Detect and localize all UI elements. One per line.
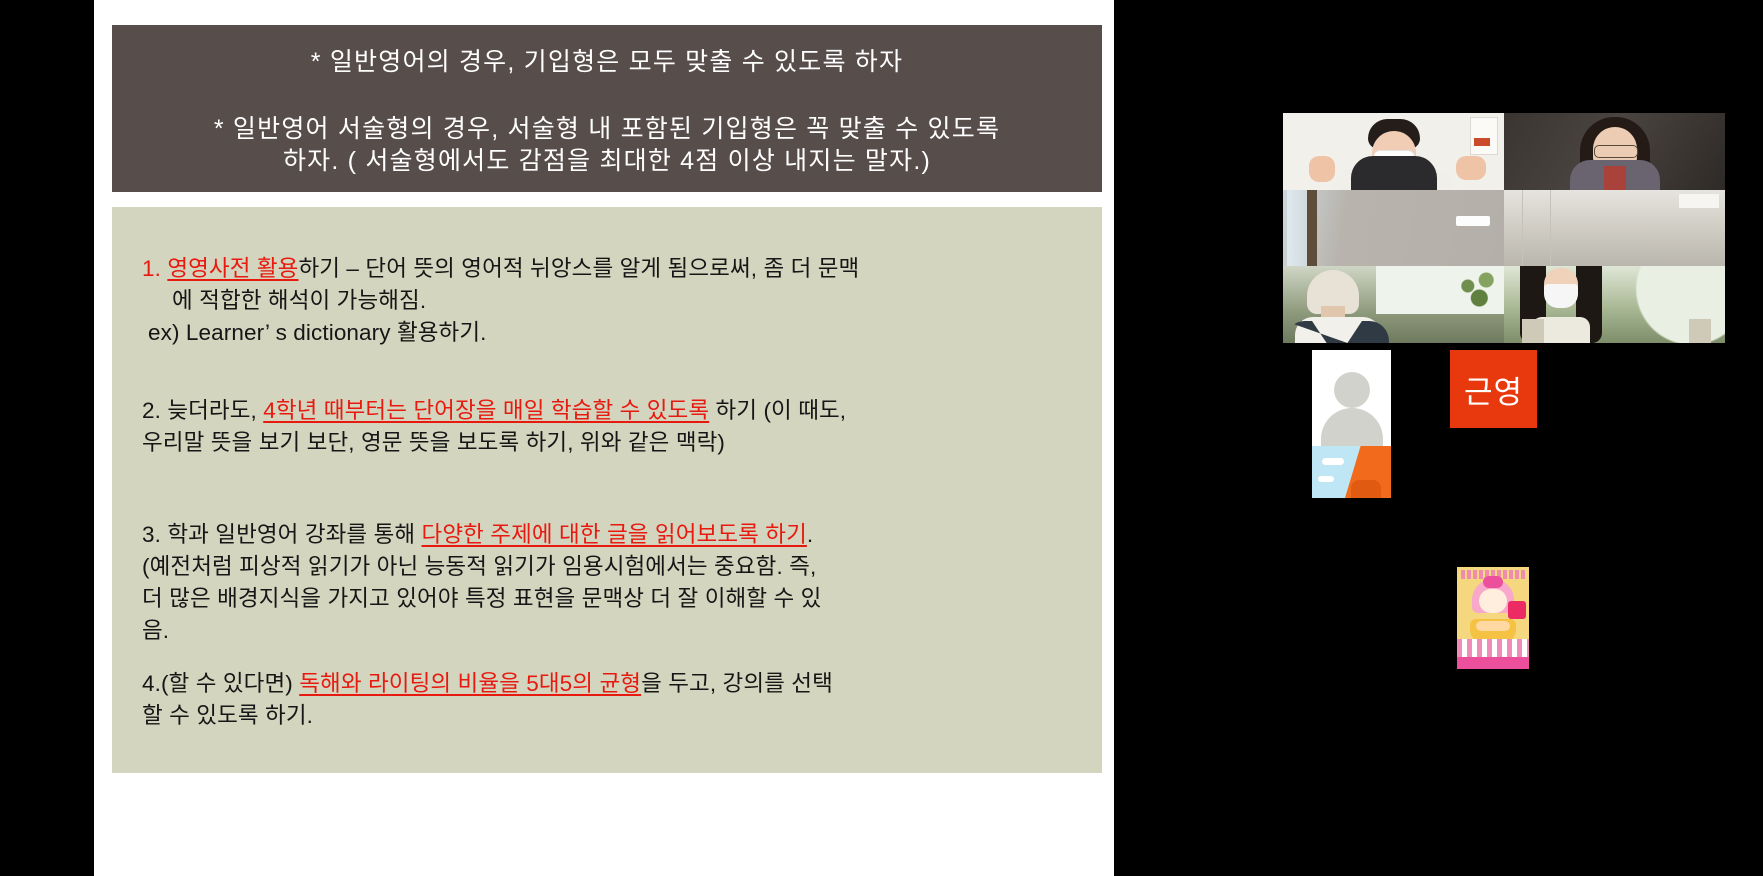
checkered-tablecloth [1457,639,1529,657]
item-3-line-2: (예전처럼 피상적 읽기가 아닌 능동적 읽기가 임용시험에서는 중요함. 즉, [142,551,1076,583]
slide-content: * 일반영어의 경우, 기입형은 모두 맞출 수 있도록 하자 * 일반영어 서… [103,20,1105,858]
video-6-collar-left [1522,319,1544,343]
participant-rail: 근영 [1114,0,1763,876]
item-3-line-3: 더 많은 배경지식을 가지고 있어야 특정 표현을 문맥상 더 잘 이해할 수 … [142,583,1076,615]
eyeglasses-icon [1594,145,1638,158]
spacer-2 [142,459,1076,519]
face-mask-icon [1544,284,1578,308]
cartoon-face [1479,589,1507,613]
item-2-number: 2. [142,398,161,423]
item-2-suffix: 하기 (이 때도, [709,398,846,423]
participant-name-tile[interactable]: 근영 [1450,350,1537,428]
video-3-window [1287,190,1309,267]
slide-header-line-2: * 일반영어 서술형의 경우, 서술형 내 포함된 기입형은 꼭 맞출 수 있도… [122,114,1092,145]
participant-video-2[interactable] [1504,113,1725,190]
participant-video-3[interactable] [1283,190,1504,267]
shared-screen-slide: * 일반영어의 경우, 기입형은 모두 맞출 수 있도록 하자 * 일반영어 서… [94,0,1114,876]
participant-video-grid [1283,113,1725,343]
participant-video-4[interactable] [1504,190,1725,267]
spacer-1 [142,349,1076,395]
rock-formation-shape [1351,480,1381,498]
thumbnail-bottom-band [1457,657,1529,669]
video-6-collar-right [1689,319,1711,343]
item-3-number: 3. [142,522,161,547]
cloud-icon [1318,476,1334,482]
item-3-prefix: 학과 일반영어 강좌를 통해 [161,522,422,547]
soup-shape [1476,621,1510,631]
meeting-window: * 일반영어의 경우, 기입형은 모두 맞출 수 있도록 하자 * 일반영어 서… [0,0,1763,876]
avatar-body-icon [1321,408,1383,446]
video-4-ceiling-seam-1 [1522,190,1523,267]
item-4-number: 4. [142,671,161,696]
item-1-example: ex) Learner’ s dictionary 활용하기. [142,317,1076,349]
default-avatar-tile[interactable] [1312,350,1391,498]
cartoon-thumbnail-image [1457,567,1529,669]
wall-calendar-icon [1470,117,1498,155]
video-4-ceiling-seam-2 [1550,190,1551,267]
participant-video-1[interactable] [1283,113,1504,190]
foliage-icon [1454,270,1500,310]
participant-name-label: 근영 [1464,367,1523,412]
participant-video-5[interactable] [1283,266,1504,343]
slide-body-block: 1. 영영사전 활용하기 – 단어 뜻의 영어적 뉘앙스를 알게 됨으로써, 좀… [112,207,1102,773]
item-4-prefix: (할 수 있다면) [161,671,299,696]
cloud-icon [1322,458,1344,465]
item-1-rest: 하기 – 단어 뜻의 영어적 뉘앙스를 알게 됨으로써, 좀 더 문맥 [298,256,859,281]
slide-header-line-1: * 일반영어의 경우, 기입형은 모두 맞출 수 있도록 하자 [122,47,1092,78]
cartoon-bow-icon [1483,576,1503,588]
ceiling-lamp-icon [1456,216,1490,226]
slide-header-line-3: 하자. ( 서술형에서도 감점을 최대한 4점 이상 내지는 말자.) [122,146,1092,177]
item-2-line-2: 우리말 뜻을 보기 보단, 영문 뜻을 보도록 하기, 위와 같은 맥락) [142,427,1076,459]
item-4-line-2: 할 수 있도록 하기. [142,700,1076,732]
thumbnail-badge [1508,601,1526,619]
slide-list-item-4: 4.(할 수 있다면) 독해와 라이팅의 비율을 5대5의 균형을 두고, 강의… [142,668,1076,700]
item-3-line-4: 음. [142,615,1076,647]
item-1-line-2: 에 적합한 해석이 가능해짐. [142,285,1076,317]
avatar-photo-strip [1312,446,1391,498]
item-4-highlight: 독해와 라이팅의 비율을 5대5의 균형 [299,671,641,696]
item-1-number: 1. [142,256,161,281]
cartoon-thumbnail-tile[interactable] [1421,567,1565,669]
rail-divider [1114,0,1115,876]
ceiling-lamp-icon [1679,194,1719,208]
item-2-highlight: 4학년 때부터는 단어장을 매일 학습할 수 있도록 [263,398,709,423]
item-3-highlight: 다양한 주제에 대한 글을 읽어보도록 하기 [422,522,807,547]
video-3-window-frame [1307,190,1317,267]
item-3-suffix: . [807,522,813,547]
participant-video-6[interactable] [1504,266,1725,343]
video-1-torso [1351,156,1437,190]
item-4-suffix: 을 두고, 강의를 선택 [641,671,833,696]
slide-list-item-2: 2. 늦더라도, 4학년 때부터는 단어장을 매일 학습할 수 있도록 하기 (… [142,395,1076,427]
video-1-hand-right [1456,156,1486,180]
video-1-hand-left [1309,156,1335,182]
avatar-head-icon [1334,372,1370,408]
slide-header-block: * 일반영어의 경우, 기입형은 모두 맞출 수 있도록 하자 * 일반영어 서… [112,25,1102,192]
item-1-highlight: 영영사전 활용 [167,256,298,281]
spacer-3 [142,646,1076,668]
item-2-prefix: 늦더라도, [161,398,263,423]
slide-list-item-3: 3. 학과 일반영어 강좌를 통해 다양한 주제에 대한 글을 읽어보도록 하기… [142,519,1076,551]
video-2-scarf [1604,166,1626,190]
slide-list-item-1: 1. 영영사전 활용하기 – 단어 뜻의 영어적 뉘앙스를 알게 됨으로써, 좀… [142,253,1076,285]
